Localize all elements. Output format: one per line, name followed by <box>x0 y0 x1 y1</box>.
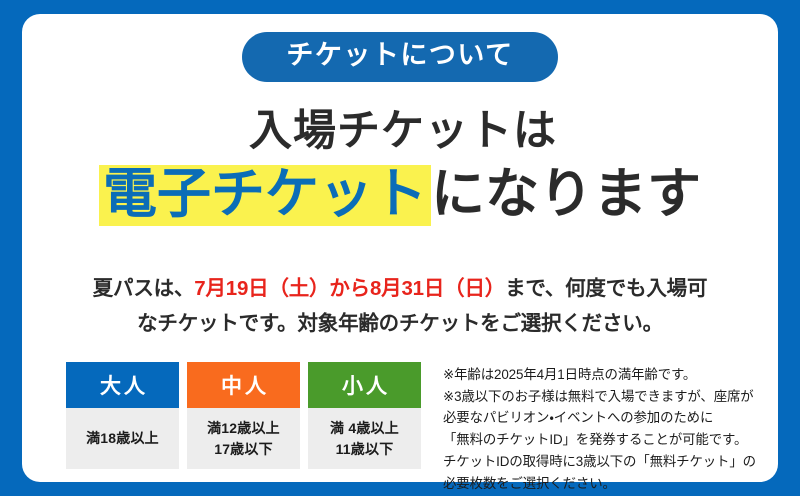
age-column-adult: 大人 満18歳以上 <box>66 362 179 469</box>
headline-line-2: 電子チケットになります <box>22 165 778 226</box>
pill-heading-wrapper: チケットについて <box>22 32 778 82</box>
age-range-line: 満12歳以上 <box>207 418 280 439</box>
lower-section: 大人 満18歳以上 中人 満12歳以上 17歳以下 小人 満 4歳以上 <box>66 362 758 494</box>
page-title: 入場チケットは 電子チケットになります <box>22 110 778 226</box>
description-lead: 夏パスは、 <box>93 277 195 300</box>
banner-inner-card: チケットについて 入場チケットは 電子チケットになります 夏パスは、7月19日（… <box>22 14 778 482</box>
description-paragraph: 夏パスは、7月19日（土）から8月31日（日）まで、何度でも入場可 なチケットで… <box>82 271 718 342</box>
age-range-line: 満 4歳以上 <box>330 418 399 439</box>
description-period: 7月19日（土）から8月31日（日） <box>194 277 505 300</box>
age-range-line: 満18歳以上 <box>86 428 159 449</box>
description-line-2: なチケットです。対象年齢のチケットをご選択ください。 <box>137 312 663 335</box>
age-header-middle: 中人 <box>187 362 300 408</box>
note-line: ※3歳以下のお子様は無料で入場できますが、座席が <box>443 386 758 408</box>
headline-trailing-text: になります <box>431 164 701 224</box>
note-line: チケットIDの取得時に3歳以下の「無料チケット」の <box>443 451 758 473</box>
age-range-line: 11歳以下 <box>336 439 394 460</box>
ticket-information-banner: チケットについて 入場チケットは 電子チケットになります 夏パスは、7月19日（… <box>0 0 800 496</box>
age-body-middle: 満12歳以上 17歳以下 <box>187 408 300 469</box>
age-range-line: 17歳以下 <box>214 439 273 460</box>
note-line: 「無料のチケットID」を発券することが可能です。 <box>443 429 758 451</box>
note-line: 必要枚数をご選択ください。 <box>443 473 758 495</box>
age-category-table: 大人 満18歳以上 中人 満12歳以上 17歳以下 小人 満 4歳以上 <box>66 362 421 469</box>
age-header-child: 小人 <box>308 362 421 408</box>
description-tail: まで、何度でも入場可 <box>505 277 707 300</box>
note-line: 必要なパビリオン・イベントへの参加のために <box>443 407 758 429</box>
notes-list: ※年齢は2025年4月1日時点の満年齢です。 ※3歳以下のお子様は無料で入場でき… <box>443 362 758 494</box>
note-line: ※年齢は2025年4月1日時点の満年齢です。 <box>443 364 758 386</box>
age-column-middle: 中人 満12歳以上 17歳以下 <box>187 362 300 469</box>
age-column-child: 小人 満 4歳以上 11歳以下 <box>308 362 421 469</box>
headline-highlight-text: 電子チケット <box>99 165 431 226</box>
age-body-adult: 満18歳以上 <box>66 408 179 469</box>
age-header-adult: 大人 <box>66 362 179 408</box>
headline-line-1: 入場チケットは <box>22 110 778 153</box>
section-pill-label: チケットについて <box>242 32 557 82</box>
age-body-child: 満 4歳以上 11歳以下 <box>308 408 421 469</box>
